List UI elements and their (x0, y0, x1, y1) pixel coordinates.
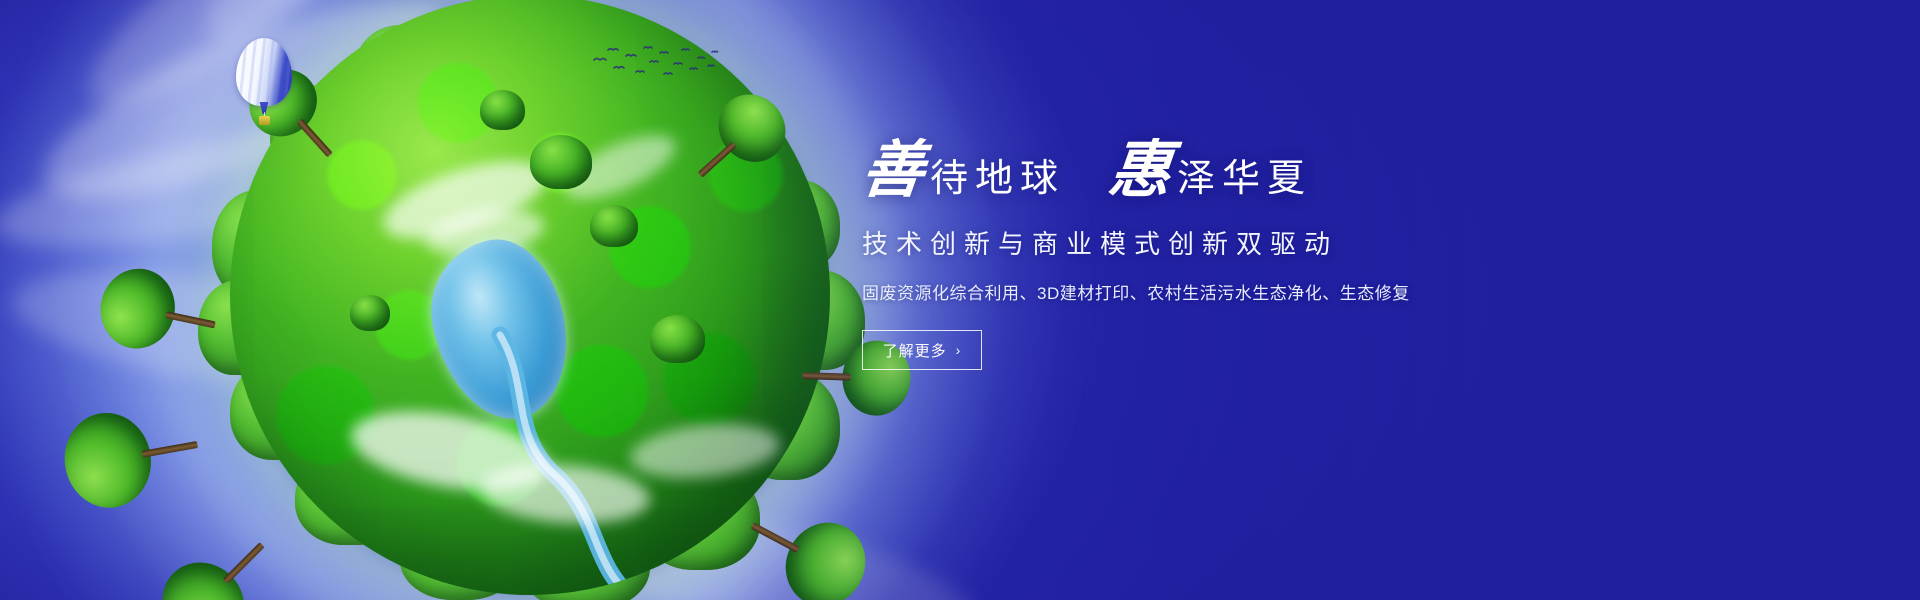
hero-copy: 善 待地球 惠 泽华夏 技术创新与商业模式创新双驱动 固废资源化综合利用、3D建… (862, 140, 1862, 370)
hero-banner: 善 待地球 惠 泽华夏 技术创新与商业模式创新双驱动 固废资源化综合利用、3D建… (0, 0, 1920, 600)
surface-shrub (480, 90, 525, 130)
hot-air-balloon-icon (236, 38, 292, 134)
surface-shrub (530, 135, 592, 189)
headline-plain-2: 泽华夏 (1177, 160, 1312, 202)
subtitle: 技术创新与商业模式创新双驱动 (862, 224, 1862, 261)
tree-trunk (165, 311, 215, 328)
tree-trunk (751, 522, 800, 553)
headline-plain-1: 待地球 (930, 160, 1065, 202)
surface-shrub (590, 205, 638, 247)
learn-more-label: 了解更多 (883, 340, 947, 361)
tree-trunk (142, 442, 198, 459)
balloon-envelope (236, 38, 292, 106)
headline: 善 待地球 惠 泽华夏 (862, 140, 1862, 202)
description: 固废资源化综合利用、3D建材打印、农村生活污水生态净化、生态修复 (862, 279, 1862, 304)
tree-trunk (698, 142, 737, 178)
flock-of-birds-icon (592, 42, 722, 88)
surface-shrub (650, 315, 705, 363)
tiny-planet-earth (230, 0, 830, 595)
balloon-basket (259, 116, 270, 125)
tree-trunk (802, 372, 850, 381)
tree-trunk (297, 118, 333, 157)
surface-shrub (350, 295, 390, 331)
headline-brush-char-1: 善 (859, 140, 934, 202)
headline-brush-char-2: 惠 (1106, 140, 1181, 202)
tree-trunk (223, 543, 265, 585)
chevron-right-icon: › (956, 342, 962, 358)
learn-more-button[interactable]: 了解更多 › (862, 330, 982, 370)
